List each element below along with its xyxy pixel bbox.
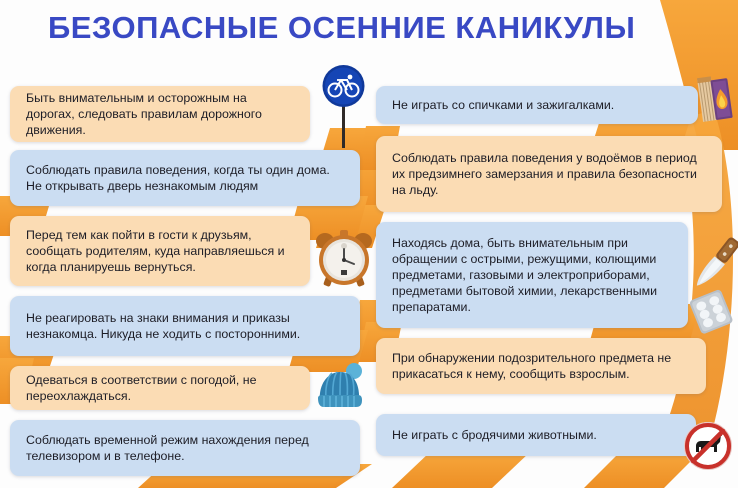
safety-infographic-poster: БЕЗОПАСНЫЕ ОСЕННИЕ КАНИКУЛЫ Быть внимате… <box>0 0 738 488</box>
poster-title: БЕЗОПАСНЫЕ ОСЕННИЕ КАНИКУЛЫ <box>48 10 708 46</box>
rule-text: Находясь дома, быть внимательным при обр… <box>392 235 675 316</box>
rule-text: Не играть с бродячими животными. <box>392 427 683 443</box>
alarm-clock-icon <box>312 228 376 290</box>
rule-card-water-ice: Соблюдать правила поведения у водоёмов в… <box>376 136 722 212</box>
no-dogs-sign-icon <box>682 420 734 472</box>
rule-text: При обнаружении подозрительного предмета… <box>392 350 693 382</box>
rule-card-home-alone: Соблюдать правила поведения, когда ты од… <box>10 150 360 206</box>
matchbox-icon <box>694 72 736 126</box>
rule-text: Соблюдать правила поведения у водоёмов в… <box>392 150 709 198</box>
rule-text: Перед тем как пойти в гости к друзьям, с… <box>26 227 297 275</box>
rule-text: Соблюдать правила поведения, когда ты од… <box>26 162 347 194</box>
rule-card-strangers: Не реагировать на знаки внимания и прика… <box>10 296 360 356</box>
rule-card-tell-parents: Перед тем как пойти в гости к друзьям, с… <box>10 216 310 286</box>
rule-text: Соблюдать временной режим нахождения пер… <box>26 432 347 464</box>
knife-icon <box>676 222 738 294</box>
rule-text: Не реагировать на знаки внимания и прика… <box>26 310 347 342</box>
pill-blister-icon <box>688 288 738 334</box>
rule-card-screen-time: Соблюдать временной режим нахождения пер… <box>10 420 360 476</box>
rule-card-stray-animals: Не играть с бродячими животными. <box>376 414 696 456</box>
bicycle-sign-icon <box>320 64 368 148</box>
rule-card-suspicious-object: При обнаружении подозрительного предмета… <box>376 338 706 394</box>
rule-text: Быть внимательным и осторожным на дорога… <box>26 90 297 138</box>
knit-hat-icon <box>312 362 368 414</box>
rule-card-dress-weather: Одеваться в соответствии с погодой, не п… <box>10 366 310 410</box>
rule-card-sharp-objects: Находясь дома, быть внимательным при обр… <box>376 222 688 328</box>
rule-text: Не играть со спичками и зажигалками. <box>392 97 685 113</box>
rule-card-matches: Не играть со спичками и зажигалками. <box>376 86 698 124</box>
rule-card-traffic: Быть внимательным и осторожным на дорога… <box>10 86 310 142</box>
rule-text: Одеваться в соответствии с погодой, не п… <box>26 372 297 404</box>
